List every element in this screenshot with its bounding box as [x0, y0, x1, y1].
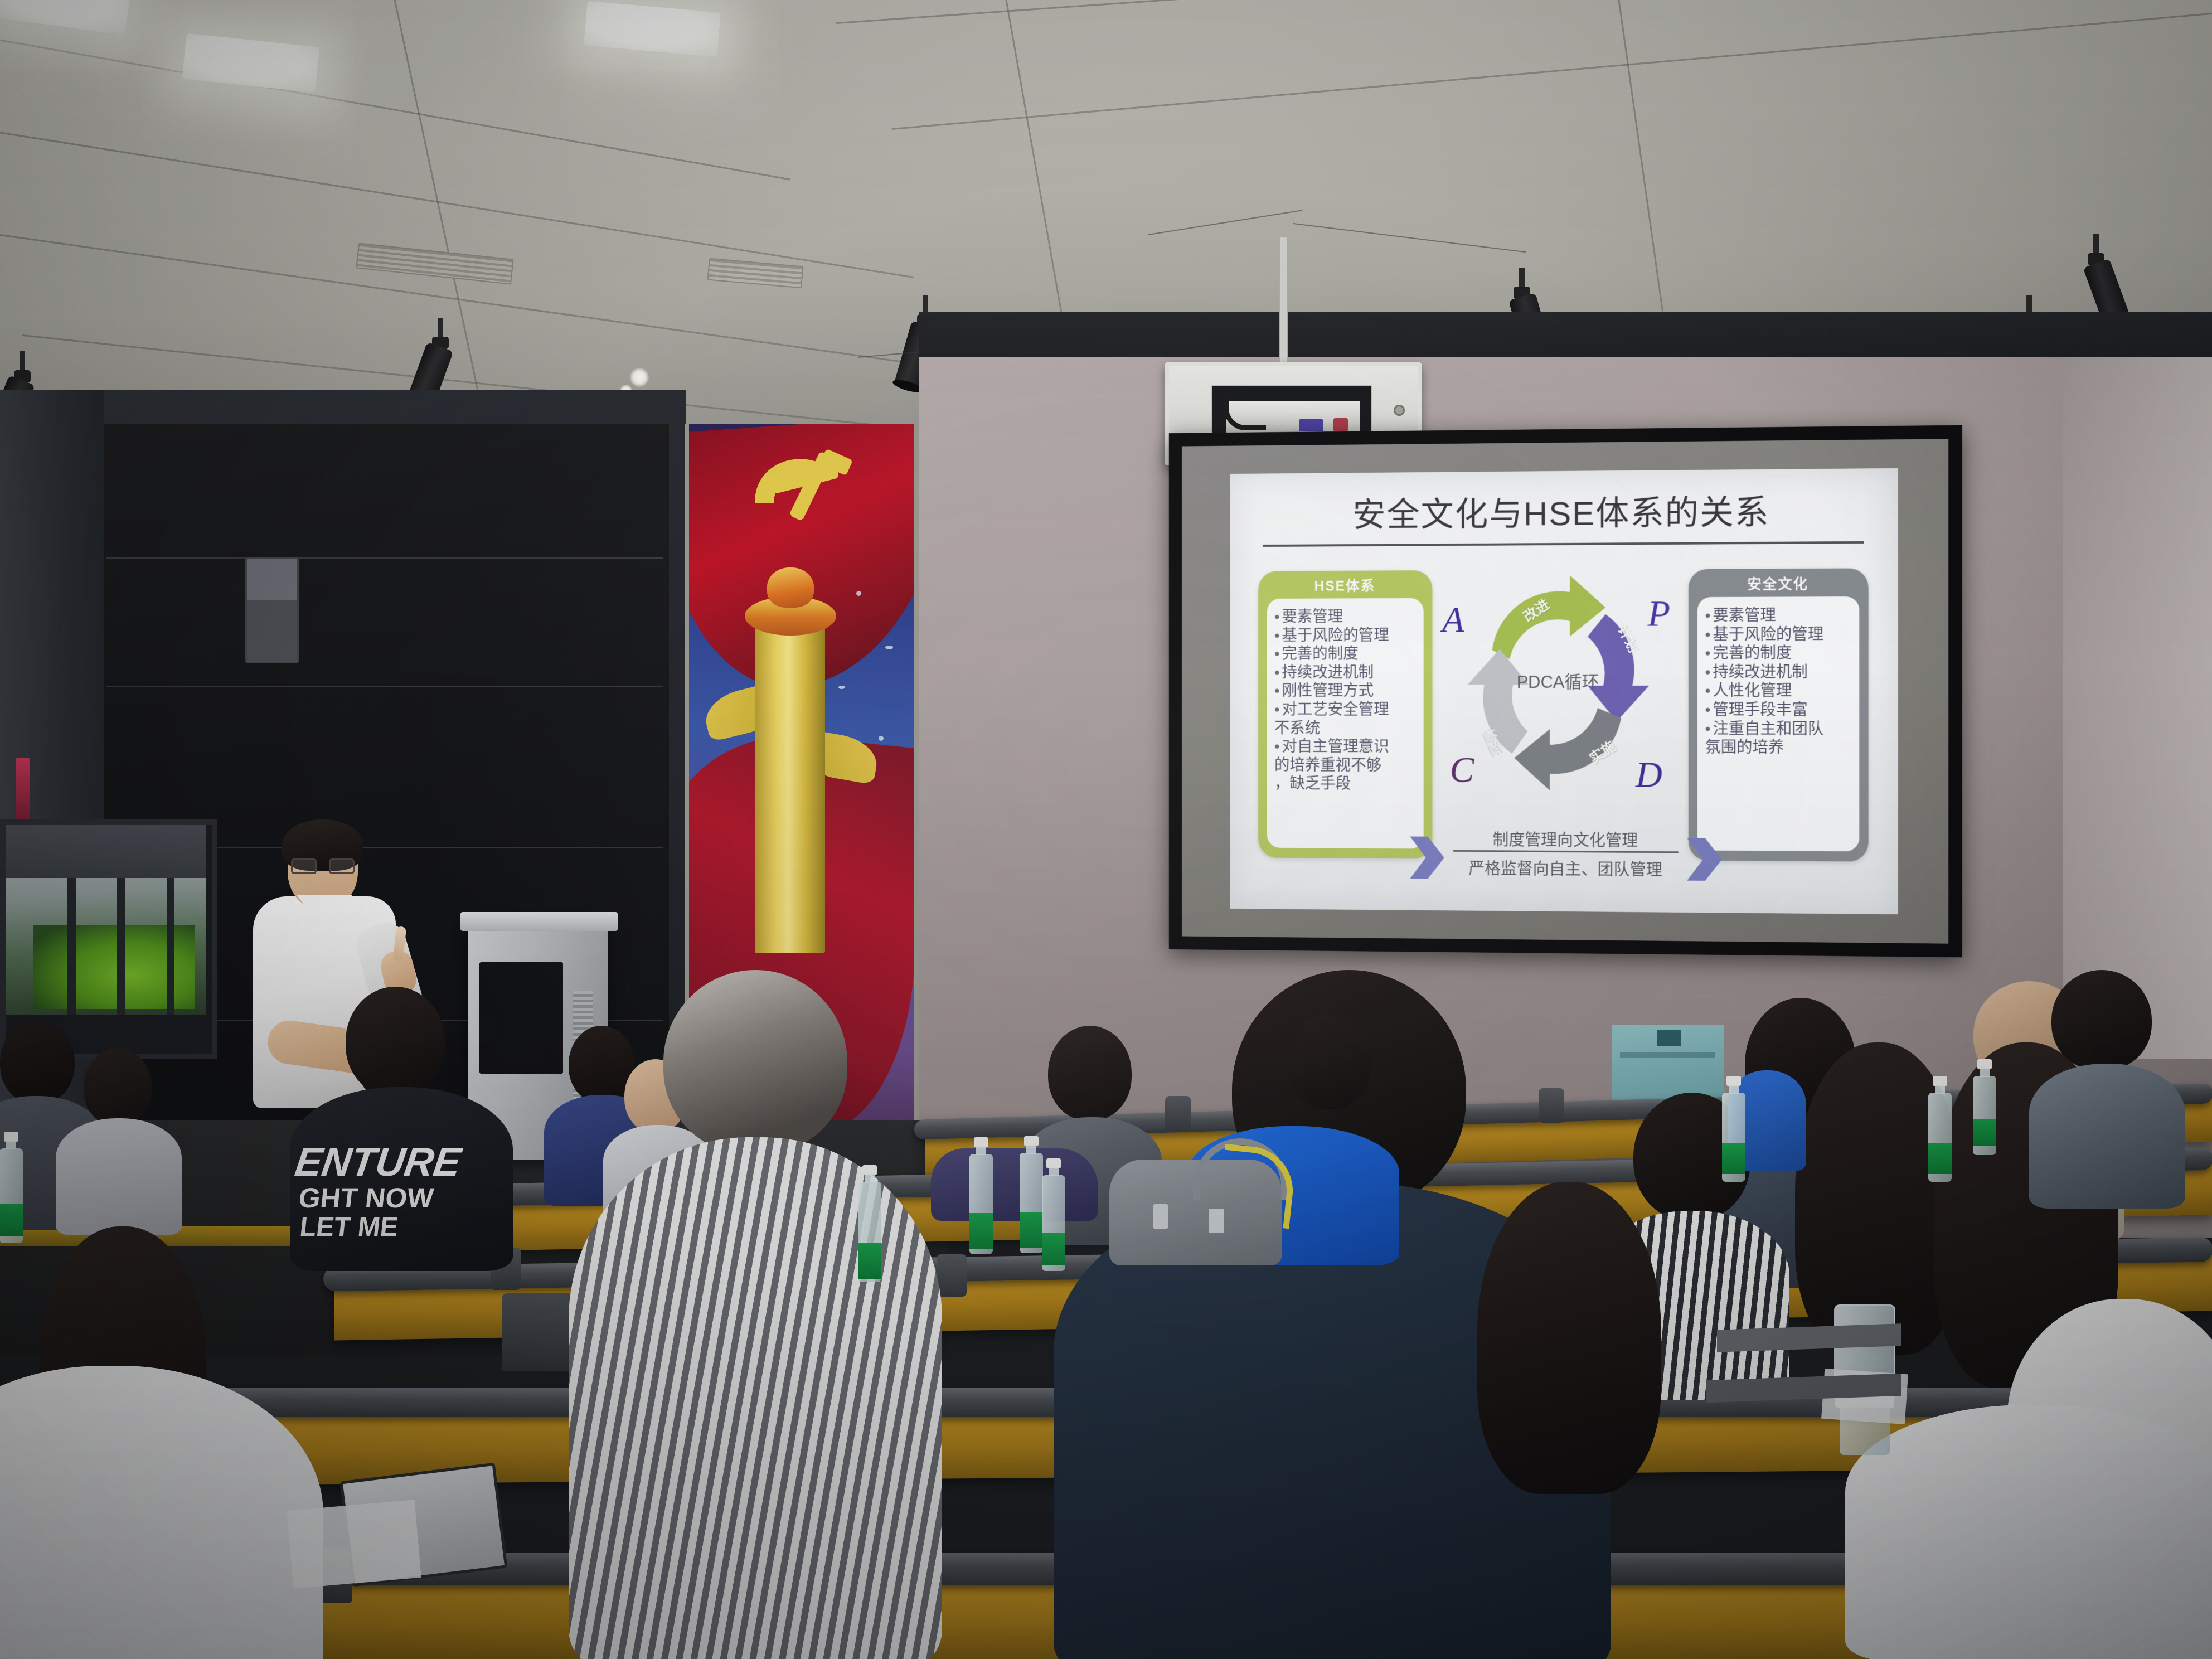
pdca-letter-c: C [1450, 749, 1474, 792]
list-item: 基于风险的管理 [1705, 624, 1854, 643]
wall-control-box [245, 557, 299, 663]
power-port [1333, 418, 1348, 431]
list-item: 注重自主和团队 [1705, 719, 1854, 738]
list-item: 完善的制度 [1274, 644, 1418, 663]
list-item-cont: ，缺乏手段 [1274, 774, 1418, 793]
culture-box-content: 要素管理 基于风险的管理 完善的制度 持续改进机制 人性化管理 管理手段丰富 注… [1697, 596, 1859, 851]
backpack-buckle [1209, 1209, 1224, 1233]
purple-bag [931, 1148, 1098, 1221]
cage-lock-icon[interactable] [1394, 405, 1405, 416]
tshirt-line-3: LET ME [298, 1212, 400, 1243]
eyeglasses-icon [329, 858, 355, 874]
list-item-cont: 的培养重视不够 [1274, 755, 1418, 774]
list-item: 持续改进机制 [1705, 662, 1854, 681]
list-item: 管理手段丰富 [1705, 700, 1854, 719]
slide-body: HSE体系 要素管理 基于风险的管理 完善的制度 持续改进机制 刚性管理方式 对… [1246, 552, 1880, 897]
hammer-and-sickle-icon [738, 443, 861, 549]
list-item-cont: 不系统 [1274, 719, 1418, 738]
projection-screen: 安全文化与HSE体系的关系 HSE体系 要素管理 基于风险的管理 完善的制度 持… [1169, 425, 1962, 958]
transition-arrow: 制度管理向文化管理 严格监督向自主、团队管理 [1410, 824, 1721, 892]
pdca-letter-p: P [1647, 593, 1670, 635]
lecture-hall-photo: 安全文化与HSE体系的关系 HSE体系 要素管理 基于风险的管理 完善的制度 持… [0, 0, 2212, 1659]
arrow-top-text: 制度管理向文化管理 [1450, 827, 1682, 851]
safety-culture-box: 安全文化 要素管理 基于风险的管理 完善的制度 持续改进机制 人性化管理 管理手… [1688, 568, 1868, 861]
list-item: 对工艺安全管理 [1274, 700, 1418, 719]
paper-sheet [287, 1500, 421, 1589]
screen-surface: 安全文化与HSE体系的关系 HSE体系 要素管理 基于风险的管理 完善的制度 持… [1182, 439, 1948, 943]
title-divider [1263, 541, 1864, 547]
right-wall [2063, 357, 2212, 1059]
recessed-downlight [630, 368, 649, 387]
tshirt-line-1: ENTURE [292, 1139, 464, 1185]
golden-column [755, 624, 825, 953]
pdca-letter-a: A [1442, 599, 1464, 642]
presentation-slide: 安全文化与HSE体系的关系 HSE体系 要素管理 基于风险的管理 完善的制度 持… [1230, 468, 1898, 914]
column-cap [767, 567, 814, 608]
list-item: 要素管理 [1274, 607, 1418, 626]
hse-box-caption: HSE体系 [1258, 570, 1432, 600]
list-item: 刚性管理方式 [1274, 681, 1418, 700]
projector-mount-rod [1279, 236, 1288, 368]
list-item: 完善的制度 [1705, 643, 1854, 662]
list-item: 对自主管理意识 [1274, 737, 1418, 756]
pdca-center-label: PDCA循环 [1439, 668, 1678, 693]
culture-box-caption: 安全文化 [1688, 568, 1868, 598]
indicator-light [16, 758, 30, 825]
lectern-shelf-cavity [479, 962, 563, 1074]
window-blind[interactable] [6, 825, 206, 878]
list-item: 人性化管理 [1705, 681, 1854, 700]
hse-box-content: 要素管理 基于风险的管理 完善的制度 持续改进机制 刚性管理方式 对工艺安全管理… [1267, 598, 1423, 849]
pdca-letter-d: D [1636, 754, 1662, 796]
list-item: 持续改进机制 [1274, 663, 1418, 682]
pdca-cycle-diagram: PDCA循环 A P D C 改进 计划 实施 检查 [1439, 566, 1678, 807]
arrow-bottom-text: 严格监督向自主、团队管理 [1432, 856, 1699, 881]
list-item: 基于风险的管理 [1274, 625, 1418, 644]
tshirt-line-2: GHT NOW [297, 1182, 435, 1214]
lectern-top [460, 912, 618, 931]
list-item: 要素管理 [1705, 605, 1854, 625]
tshirt-print: ENTURE GHT NOW LET ME [290, 1131, 491, 1248]
hse-system-box: HSE体系 要素管理 基于风险的管理 完善的制度 持续改进机制 刚性管理方式 对… [1258, 570, 1432, 858]
poster-text-line [1620, 1052, 1715, 1058]
backpack-buckle [1153, 1204, 1168, 1229]
vga-port [1299, 419, 1323, 431]
list-item-cont: 氛围的培养 [1705, 738, 1854, 757]
slide-title: 安全文化与HSE体系的关系 [1246, 484, 1880, 537]
poster-badge-icon [1657, 1030, 1681, 1046]
eyeglasses-icon [291, 858, 317, 874]
